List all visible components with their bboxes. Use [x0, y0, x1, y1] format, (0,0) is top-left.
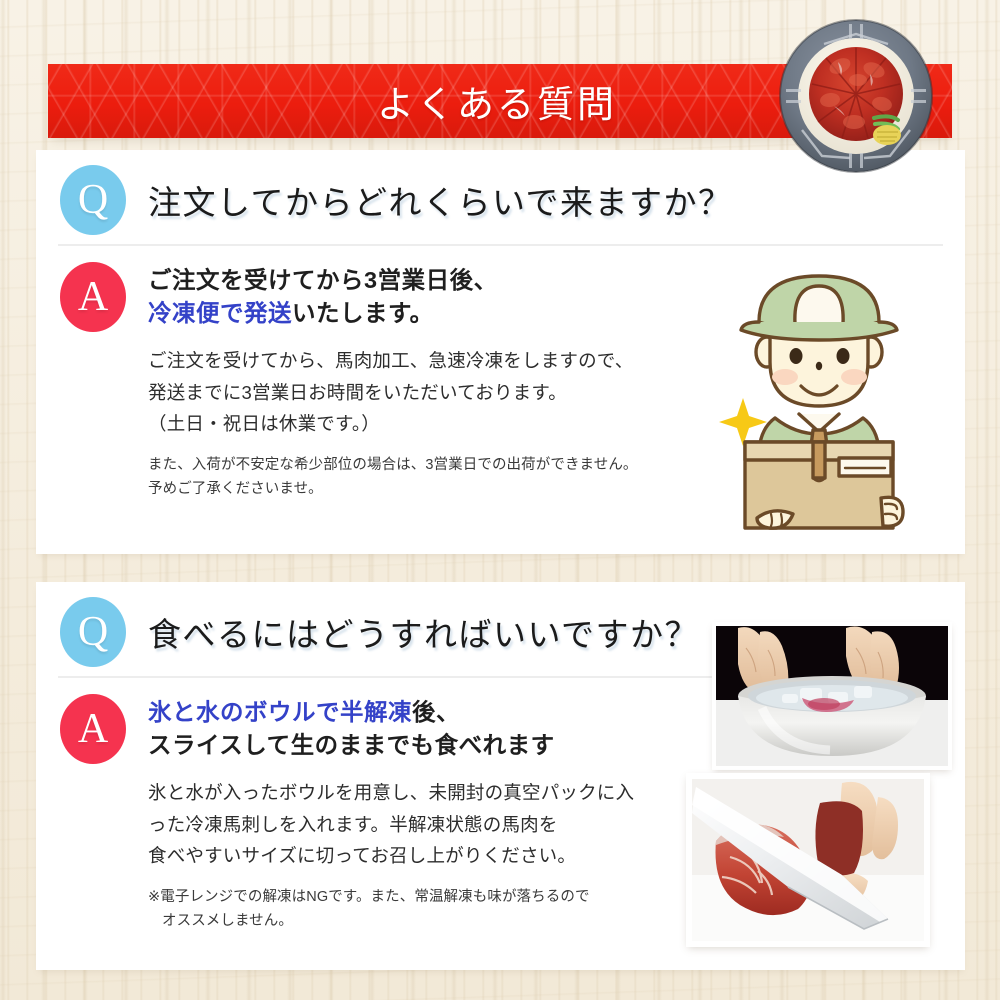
question-badge: Q — [60, 165, 126, 235]
answer-note-line2: オススメしません。 — [148, 910, 634, 933]
answer-highlight: 冷凍便で発送 — [148, 300, 292, 326]
answer-note-line1: また、入荷が不安定な希少部位の場合は、3営業日での出荷ができません。 — [148, 454, 638, 477]
answer-headline-line2: スライスして生のままでも食べれます — [148, 729, 634, 762]
answer-note: また、入荷が不安定な希少部位の場合は、3営業日での出荷ができません。 予めご了承… — [148, 454, 638, 501]
basashi-plate-photo — [778, 18, 934, 174]
answer-headline-line2: 冷凍便で発送いたします。 — [148, 297, 638, 330]
answer-paragraph: ご注文を受けてから、馬肉加工、急速冷凍をしますので、 発送までに3営業日お時間を… — [148, 345, 638, 440]
ice-water-bowl-photo — [712, 622, 952, 770]
answer-headline: ご注文を受けてから3営業日後、 冷凍便で発送いたします。 — [148, 264, 638, 331]
faq-card-1: Q 注文してからどれくらいで来ますか？ A ご注文を受けてから3営業日後、 冷凍… — [36, 150, 965, 554]
question-text: 注文してからどれくらいで来ますか？ — [148, 176, 733, 224]
answer-paragraph-line1: 氷と水が入ったボウルを用意し、未開封の真空パックに入 — [148, 777, 634, 809]
answer-paragraph-line3: 食べやすいサイズに切ってお召し上がりください。 — [148, 840, 634, 872]
answer-paragraph-line3: （土日・祝日は休業です。） — [148, 408, 638, 440]
answer-body: ご注文を受けてから3営業日後、 冷凍便で発送いたします。 ご注文を受けてから、馬… — [148, 262, 638, 501]
answer-badge: A — [60, 694, 126, 764]
answer-paragraph-line2: った冷凍馬刺しを入れます。半解凍状態の馬肉を — [148, 809, 634, 841]
answer-note-line1: ※電子レンジでの解凍はNGです。また、常温解凍も味が落ちるので — [148, 886, 634, 909]
delivery-person-illustration — [695, 246, 941, 536]
question-text: 食べるにはどうすればいいですか？ — [148, 608, 699, 656]
answer-paragraph-line1: ご注文を受けてから、馬肉加工、急速冷凍をしますので、 — [148, 345, 638, 377]
answer-note: ※電子レンジでの解凍はNGです。また、常温解凍も味が落ちるので オススメしません… — [148, 886, 634, 933]
answer-highlight: 氷と水のボウルで半解凍 — [148, 699, 412, 725]
answer-headline-rest: いたします。 — [292, 300, 434, 326]
question-badge: Q — [60, 597, 126, 667]
answer-body: 氷と水のボウルで半解凍後、 スライスして生のままでも食べれます 氷と水が入ったボ… — [148, 694, 634, 933]
answer-note-line2: 予めご了承くださいませ。 — [148, 478, 638, 501]
answer-paragraph-line2: 発送までに3営業日お時間をいただいております。 — [148, 377, 638, 409]
answer-headline: 氷と水のボウルで半解凍後、 スライスして生のままでも食べれます — [148, 696, 634, 763]
answer-headline-rest: 後、 — [412, 699, 460, 725]
answer-badge: A — [60, 262, 126, 332]
answer-headline-line1: ご注文を受けてから3営業日後、 — [148, 264, 638, 297]
answer-headline-line1: 氷と水のボウルで半解凍後、 — [148, 696, 634, 729]
slicing-meat-knife-photo — [686, 773, 930, 947]
answer-paragraph: 氷と水が入ったボウルを用意し、未開封の真空パックに入 った冷凍馬刺しを入れます。… — [148, 777, 634, 872]
page-title: よくある質問 — [377, 74, 623, 128]
